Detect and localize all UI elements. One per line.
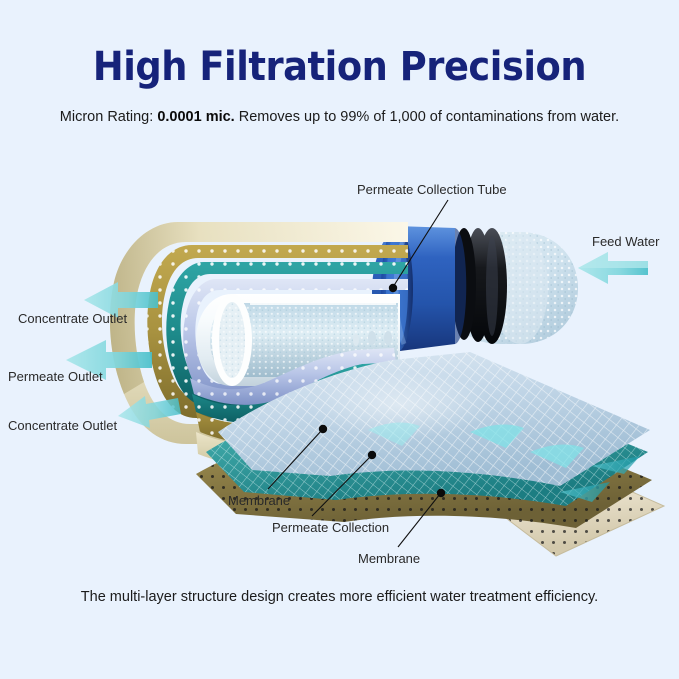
o-rings <box>452 228 507 344</box>
layer-permeate-carrier <box>183 279 408 400</box>
subtitle-prefix: Micron Rating: <box>60 109 158 125</box>
infographic-root: High Filtration Precision Micron Rating:… <box>0 0 679 679</box>
label-membrane-lower: Membrane <box>358 551 420 566</box>
interlayer-flow-wisps <box>368 423 640 502</box>
membrane-cutaway-illustration <box>0 0 679 679</box>
label-permeate-collection: Permeate Collection <box>272 520 389 535</box>
layer-teal-membrane <box>166 262 408 406</box>
leader-lines <box>268 200 448 547</box>
layer-outer-cream-wrap <box>110 222 408 444</box>
leader-dots <box>319 284 445 497</box>
subtitle-suffix: Removes up to 99% of 1,000 of contaminat… <box>235 109 619 125</box>
layer-olive-feed-spacer <box>147 245 408 418</box>
label-concentrate-outlet-lower: Concentrate Outlet <box>8 418 117 433</box>
lower-wrap-layers <box>190 348 402 465</box>
label-feed-water: Feed Water <box>592 234 659 249</box>
pressure-vessel-shell <box>372 226 466 352</box>
sheet-light-mesh-feed-spacer <box>200 345 670 495</box>
label-concentrate-outlet-upper: Concentrate Outlet <box>18 311 127 326</box>
arrow-feed-water <box>578 252 648 284</box>
sheet-olive-permeate-carrier <box>180 395 670 540</box>
subtitle-micron-value: 0.0001 mic. <box>157 109 234 125</box>
arrow-concentrate-outlet-lower <box>118 396 181 428</box>
subtitle: Micron Rating: 0.0001 mic. Removes up to… <box>0 109 679 125</box>
end-cap-mesh <box>442 232 578 344</box>
footer-caption: The multi-layer structure design creates… <box>0 589 679 605</box>
label-permeate-collection-tube: Permeate Collection Tube <box>357 182 507 197</box>
label-permeate-outlet: Permeate Outlet <box>8 369 103 384</box>
page-title: High Filtration Precision <box>27 44 652 90</box>
sheet-cream-membrane <box>410 430 679 570</box>
label-membrane-upper: Membrane <box>228 493 290 508</box>
permeate-collection-tube <box>196 294 400 386</box>
